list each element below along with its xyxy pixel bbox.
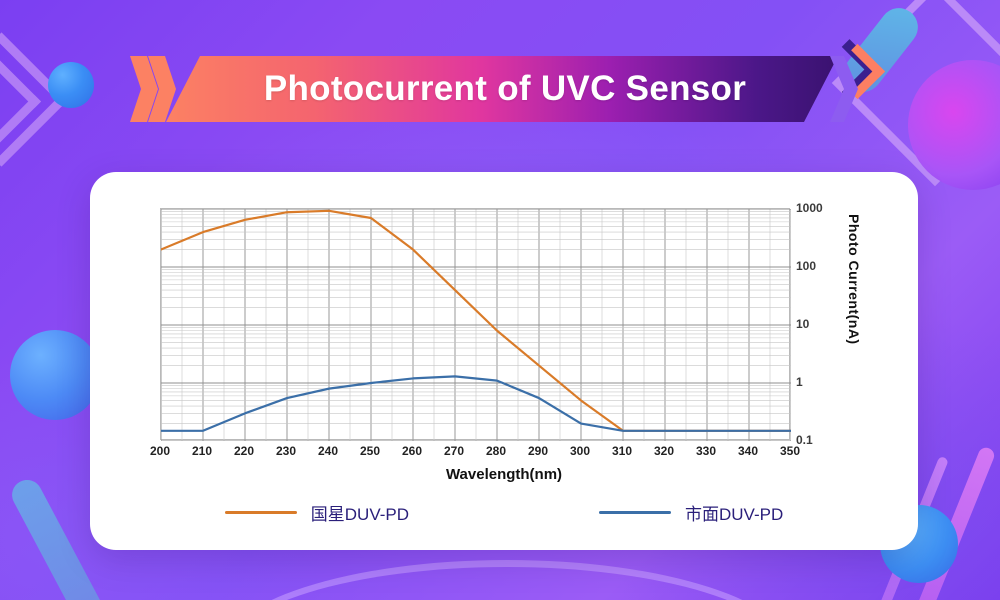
- legend-item-guoxing[interactable]: 国星DUV-PD: [225, 500, 409, 525]
- x-tick-label: 250: [360, 444, 380, 458]
- y-axis-title: Photo Current(nA): [846, 214, 862, 345]
- chart-legend: 国星DUV-PD 市面DUV-PD: [90, 500, 918, 525]
- chart-card: 1000 100 10 1 0.1 Photo Current(nA) 2002…: [90, 172, 918, 550]
- chart-canvas: [160, 208, 790, 440]
- blue-sphere-decoration: [48, 62, 94, 108]
- y-tick-label: 10: [796, 317, 809, 331]
- x-tick-label: 300: [570, 444, 590, 458]
- x-tick-label: 200: [150, 444, 170, 458]
- y-tick-label: 1: [796, 375, 803, 389]
- x-axis-tick-labels: 2002102202302402502602702802903003103203…: [160, 444, 790, 462]
- page-title: Photocurrent of UVC Sensor: [258, 69, 746, 109]
- legend-item-shimian[interactable]: 市面DUV-PD: [599, 500, 783, 525]
- chart-plot-area: [160, 208, 790, 440]
- x-tick-label: 260: [402, 444, 422, 458]
- x-tick-label: 240: [318, 444, 338, 458]
- x-tick-label: 280: [486, 444, 506, 458]
- x-tick-label: 310: [612, 444, 632, 458]
- x-tick-label: 220: [234, 444, 254, 458]
- blue-sphere-decoration-2: [10, 330, 100, 420]
- x-tick-label: 320: [654, 444, 674, 458]
- x-tick-label: 230: [276, 444, 296, 458]
- legend-label: 国星DUV-PD: [311, 500, 409, 525]
- x-tick-label: 350: [780, 444, 800, 458]
- title-banner-bar: Photocurrent of UVC Sensor: [166, 56, 838, 122]
- bottom-arc-decoration: [220, 560, 794, 600]
- y-tick-label: 1000: [796, 201, 823, 215]
- y-tick-label: 100: [796, 259, 816, 273]
- x-tick-label: 270: [444, 444, 464, 458]
- x-axis-title: Wavelength(nm): [90, 466, 918, 483]
- x-tick-label: 330: [696, 444, 716, 458]
- legend-swatch-blue: [599, 511, 671, 514]
- legend-label: 市面DUV-PD: [685, 500, 783, 525]
- banner-chevron-right-icon: [830, 56, 858, 122]
- chart-svg: [161, 209, 791, 441]
- x-tick-label: 290: [528, 444, 548, 458]
- x-tick-label: 340: [738, 444, 758, 458]
- slide-root: Photocurrent of UVC Sensor 1000 100 10 1…: [0, 0, 1000, 600]
- y-axis-tick-labels: 1000 100 10 1 0.1: [796, 200, 840, 448]
- legend-swatch-orange: [225, 511, 297, 514]
- title-banner: Photocurrent of UVC Sensor: [130, 56, 870, 122]
- x-tick-label: 210: [192, 444, 212, 458]
